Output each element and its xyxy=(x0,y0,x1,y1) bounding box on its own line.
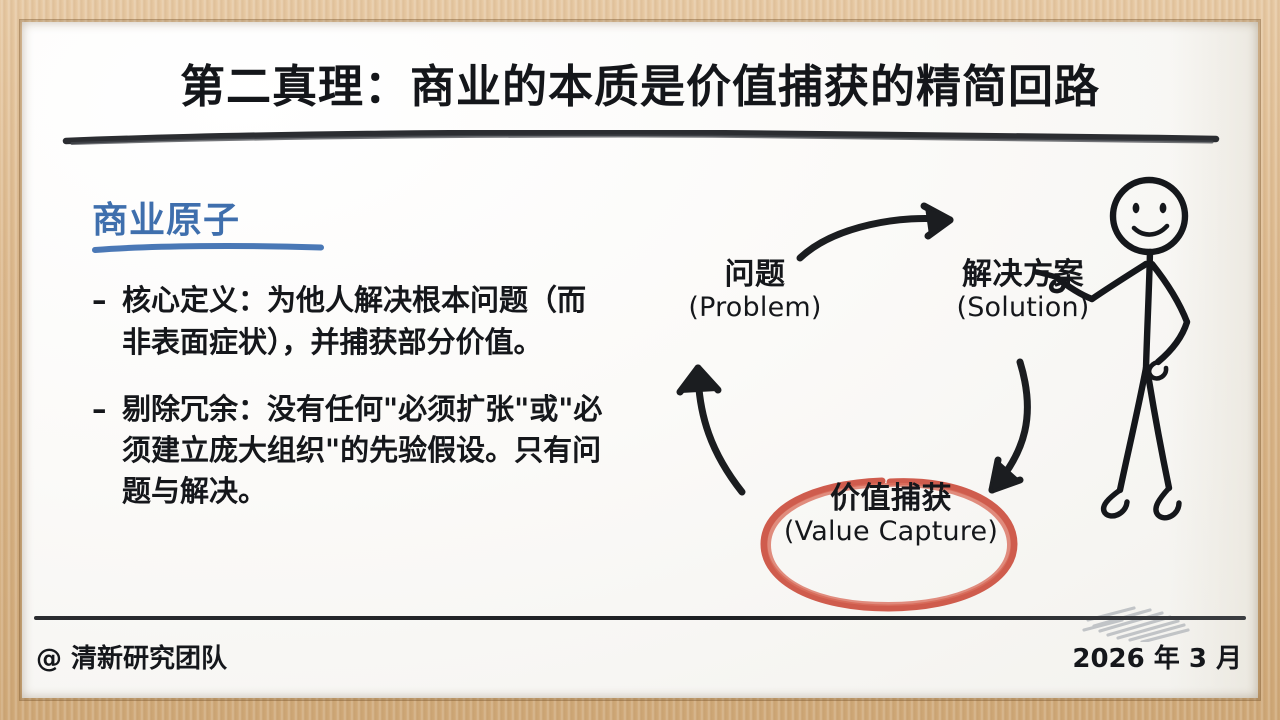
node-label-cn: 问题 xyxy=(660,258,850,292)
problem-to-solution-arrow xyxy=(800,206,950,258)
list-item: – 核心定义：为他人解决根本问题（而非表面症状），并捕获部分价值。 xyxy=(92,280,612,362)
footer-date: 2026 年 3 月 xyxy=(1072,638,1242,675)
figure-eye-right xyxy=(1160,203,1167,213)
section-heading: 商业原子 xyxy=(92,200,612,241)
figure-ground-shadow xyxy=(1084,608,1188,642)
value-capture-cycle-diagram: 问题 (Problem) 解决方案 (Solution) 价值捕获 (Value… xyxy=(622,172,1258,642)
list-item: – 剔除冗余：没有任何"必须扩张"或"必须建立庞大组织"的先验假设。只有问题与解… xyxy=(92,389,612,513)
figure-left-leg xyxy=(1120,368,1146,490)
page-title: 第二真理：商业的本质是价值捕获的精简回路 xyxy=(22,50,1258,115)
bullet-text: 核心定义：为他人解决根本问题（而非表面症状），并捕获部分价值。 xyxy=(122,280,612,362)
left-content-column: 商业原子 – 核心定义：为他人解决根本问题（而非表面症状），并捕获部分价值。 –… xyxy=(92,200,612,512)
title-underline-stroke xyxy=(62,130,1220,146)
node-label-en: (Problem) xyxy=(660,292,850,324)
node-label-en: (Value Capture) xyxy=(766,516,1016,548)
bullet-dash: – xyxy=(92,280,122,362)
whiteboard-panel: 第二真理：商业的本质是价值捕获的精简回路 商业原子 – 核心定义：为他人解决根本… xyxy=(22,22,1258,698)
stick-figure-pointing-left xyxy=(1036,180,1188,642)
section-heading-underline-stroke xyxy=(92,242,324,254)
figure-left-foot xyxy=(1104,490,1127,516)
figure-hip-hand xyxy=(1149,362,1166,378)
diagram-node-problem: 问题 (Problem) xyxy=(660,258,850,324)
figure-right-leg xyxy=(1147,368,1169,488)
figure-hip-forearm xyxy=(1158,322,1187,362)
figure-smile xyxy=(1134,226,1167,235)
node-label-cn: 解决方案 xyxy=(918,258,1128,292)
solution-to-value-arrow xyxy=(992,362,1027,490)
diagram-node-solution: 解决方案 (Solution) xyxy=(918,258,1128,324)
diagram-canvas xyxy=(622,172,1258,642)
figure-head xyxy=(1113,180,1185,252)
footer-credit: @ 清新研究团队 xyxy=(36,638,227,675)
value-to-problem-arrow xyxy=(680,368,742,492)
figure-right-foot xyxy=(1156,488,1179,518)
footer-divider xyxy=(34,616,1246,620)
figure-torso xyxy=(1146,252,1150,368)
diagram-node-value-capture: 价值捕获 (Value Capture) xyxy=(766,482,1016,548)
bullet-dash: – xyxy=(92,389,122,513)
node-label-cn: 价值捕获 xyxy=(766,482,1016,516)
wooden-frame: 第二真理：商业的本质是价值捕获的精简回路 商业原子 – 核心定义：为他人解决根本… xyxy=(0,0,1280,720)
figure-eye-left xyxy=(1133,203,1140,213)
node-label-en: (Solution) xyxy=(918,292,1128,324)
figure-hip-arm xyxy=(1152,264,1187,322)
bullet-text: 剔除冗余：没有任何"必须扩张"或"必须建立庞大组织"的先验假设。只有问题与解决。 xyxy=(122,389,612,513)
